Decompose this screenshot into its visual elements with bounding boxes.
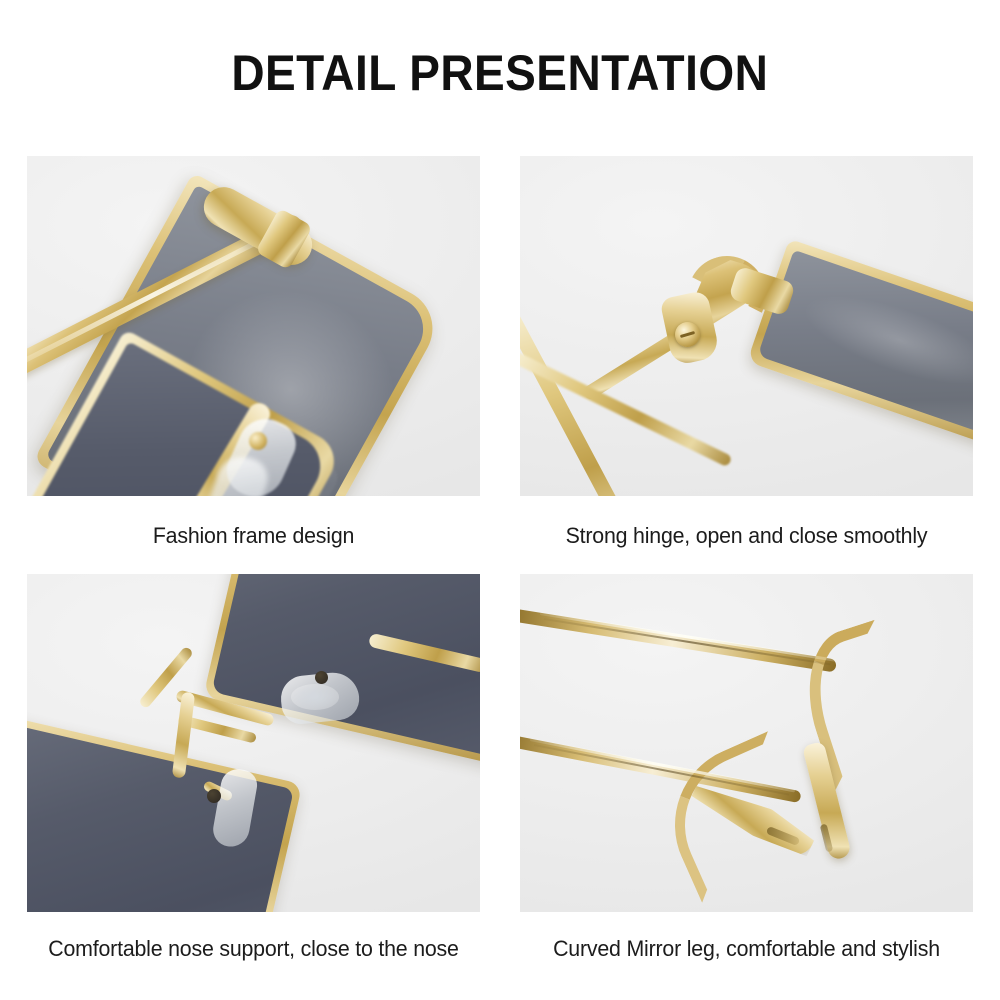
feature-caption: Curved Mirror leg, comfortable and styli… xyxy=(527,912,966,962)
feature-cell-curved-mirror-leg: Curved Mirror leg, comfortable and styli… xyxy=(520,574,973,962)
feature-grid: Fashion frame design Strong xyxy=(27,156,973,956)
nose-pad-screw xyxy=(249,432,267,450)
feature-cell-nose-support: Comfortable nose support, close to the n… xyxy=(27,574,480,962)
page-title: DETAIL PRESENTATION xyxy=(0,44,1000,102)
lens-reflection xyxy=(795,278,973,402)
product-photo-curved-mirror-leg xyxy=(520,574,973,912)
feature-cell-fashion-frame-design: Fashion frame design xyxy=(27,156,480,549)
detail-presentation-page: DETAIL PRESENTATION xyxy=(0,0,1000,1000)
feature-cell-strong-hinge: Strong hinge, open and close smoothly xyxy=(520,156,973,549)
page-title-text: DETAIL PRESENTATION xyxy=(232,44,769,102)
nose-pad-left-screw xyxy=(207,789,221,803)
nose-pad-right-screw xyxy=(315,671,328,684)
nose-pad-right-inner xyxy=(291,684,339,710)
hinge-screw xyxy=(675,322,700,347)
feature-caption: Strong hinge, open and close smoothly xyxy=(527,496,966,549)
product-photo-strong-hinge xyxy=(520,156,973,496)
product-photo-fashion-frame-design xyxy=(27,156,480,496)
feature-caption: Fashion frame design xyxy=(34,496,473,549)
product-photo-nose-support xyxy=(27,574,480,912)
feature-caption: Comfortable nose support, close to the n… xyxy=(34,912,473,962)
